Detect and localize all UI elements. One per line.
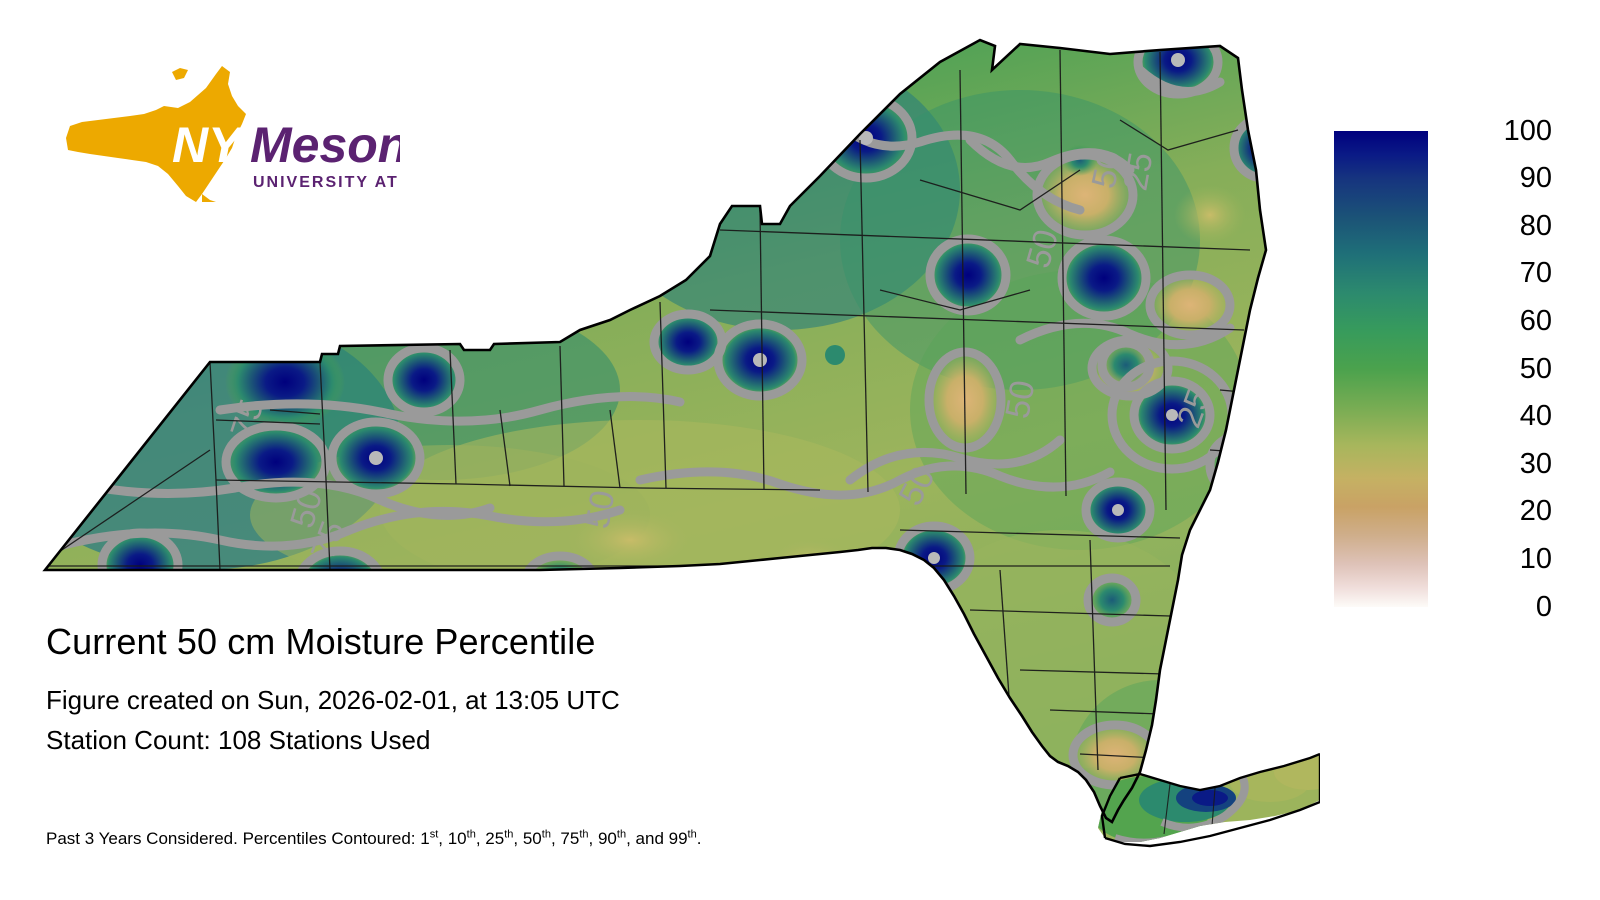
ordinal-suffix: th	[542, 828, 551, 840]
page-title: Current 50 cm Moisture Percentile	[46, 620, 1046, 664]
colorbar-tick-10: 10	[1434, 545, 1552, 574]
colorbar-tick-40: 40	[1434, 402, 1552, 431]
percentile-footnote: Past 3 Years Considered. Percentiles Con…	[46, 828, 701, 850]
svg-text:25: 25	[1116, 150, 1160, 194]
colorbar-container: 1009080706050403020100	[1334, 122, 1584, 622]
percentile-level-50: 50	[523, 829, 542, 848]
colorbar-tick-labels: 1009080706050403020100	[1434, 122, 1574, 616]
colorbar-tick-0: 0	[1434, 593, 1552, 622]
svg-text:50: 50	[578, 488, 622, 532]
percentile-level-1: 1	[420, 829, 429, 848]
ordinal-suffix: th	[617, 828, 626, 840]
colorbar-tick-90: 90	[1434, 164, 1552, 193]
ordinal-suffix: th	[504, 828, 513, 840]
colorbar-tick-70: 70	[1434, 259, 1552, 288]
station-count-line: Station Count: 108 Stations Used	[46, 720, 1046, 760]
percentile-level-10: 10	[448, 829, 467, 848]
moisture-percentile-colorbar	[1334, 131, 1428, 607]
figure-caption-block: Current 50 cm Moisture Percentile Figure…	[46, 620, 1046, 760]
colorbar-tick-80: 80	[1434, 212, 1552, 241]
percentile-level-99: 99	[669, 829, 688, 848]
colorbar-tick-60: 60	[1434, 307, 1552, 336]
ordinal-suffix: th	[579, 828, 588, 840]
colorbar-tick-100: 100	[1434, 117, 1552, 146]
colorbar-tick-30: 30	[1434, 450, 1552, 479]
figure-created-line: Figure created on Sun, 2026-02-01, at 13…	[46, 680, 1046, 720]
percentile-level-25: 25	[485, 829, 504, 848]
svg-text:50: 50	[998, 378, 1042, 422]
ordinal-suffix: th	[688, 828, 697, 840]
colorbar-tick-50: 50	[1434, 355, 1552, 384]
percentile-level-75: 75	[560, 829, 579, 848]
ordinal-suffix: th	[467, 828, 476, 840]
colorbar-tick-20: 20	[1434, 497, 1552, 526]
ordinal-suffix: st	[430, 828, 439, 840]
percentile-level-90: 90	[598, 829, 617, 848]
figure-canvas: NYS Mesonet UNIVERSITY AT ALBANY	[0, 0, 1600, 900]
